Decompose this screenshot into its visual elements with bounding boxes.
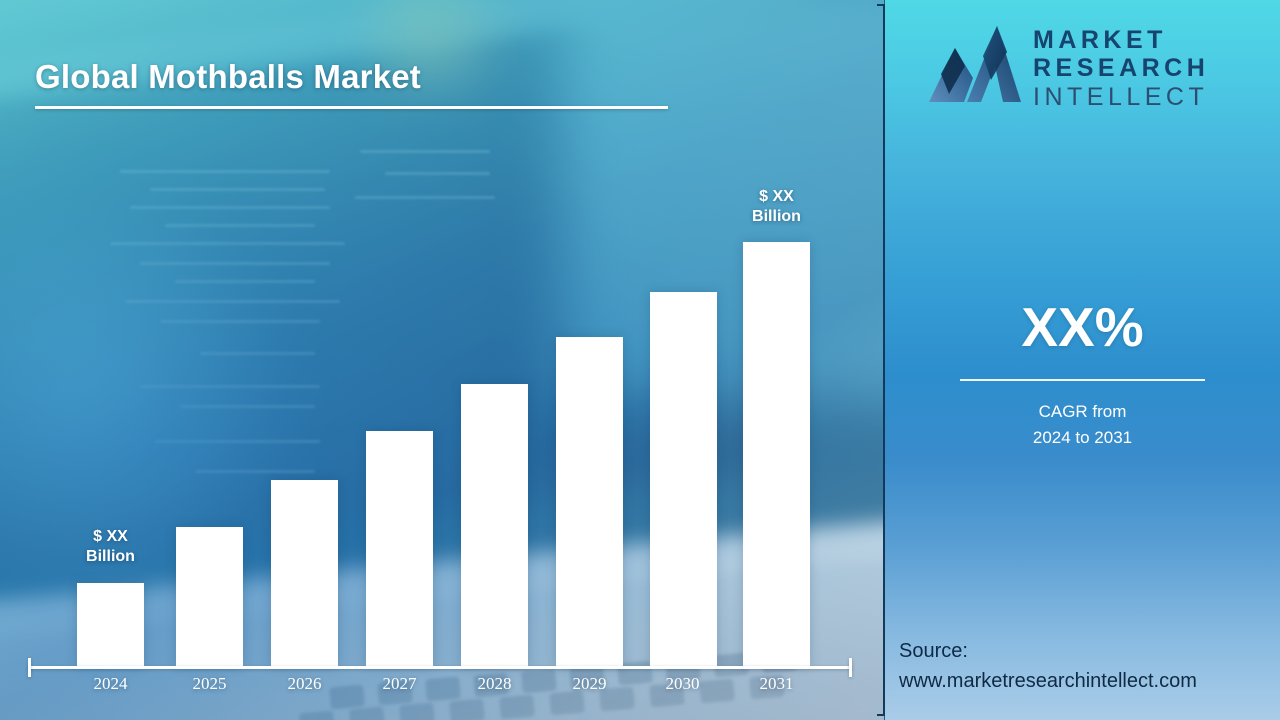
x-axis-cap-left [28,658,31,677]
bar-label-2024-line2: Billion [86,548,135,565]
source-block: Source: www.marketresearchintellect.com [899,636,1279,696]
bar-2028 [461,384,528,667]
source-url[interactable]: www.marketresearchintellect.com [899,666,1279,696]
x-axis-cap-right [849,658,852,677]
bar-label-2031-line2: Billion [752,208,801,225]
bar-2026 [271,480,338,667]
x-tick-2027: 2027 [351,674,448,694]
bar-2031 [743,242,810,667]
cagr-block: XX% CAGR from 2024 to 2031 [885,300,1280,452]
bar-2024 [77,583,144,667]
x-axis-line [28,666,852,669]
x-tick-2024: 2024 [62,674,159,694]
x-tick-2025: 2025 [161,674,258,694]
brand-logo-text: MARKET RESEARCH INTELLECT [1033,26,1263,111]
mountain-m-mark-icon [921,22,1029,106]
bar-2027 [366,431,433,667]
brand-logo: MARKET RESEARCH INTELLECT [905,14,1265,114]
cagr-value: XX% [885,300,1280,355]
cagr-description: CAGR from 2024 to 2031 [885,399,1280,452]
source-label: Source: [899,636,1279,666]
logo-line-research: RESEARCH [1033,54,1263,82]
x-tick-2029: 2029 [541,674,638,694]
cagr-divider-rule [960,379,1205,381]
bar-label-2031-line1: $ XX [759,188,794,205]
bar-chart: $ XX Billion $ XX Billion 2024 2025 2026… [0,0,884,720]
bar-label-2024-line1: $ XX [93,528,128,545]
bar-2025 [176,527,243,667]
x-tick-2030: 2030 [634,674,731,694]
bar-2029 [556,337,623,667]
bar-label-2024: $ XX Billion [62,527,159,568]
x-tick-2031: 2031 [728,674,825,694]
right-panel: MARKET RESEARCH INTELLECT XX% CAGR from … [885,0,1280,720]
x-tick-2028: 2028 [446,674,543,694]
logo-line-market: MARKET [1033,26,1263,54]
cagr-desc-line1: CAGR from [1039,402,1127,421]
bar-2030 [650,292,717,667]
logo-line-intellect: INTELLECT [1033,83,1263,111]
cagr-desc-line2: 2024 to 2031 [1033,428,1132,447]
x-tick-2026: 2026 [256,674,353,694]
left-panel: Global Mothballs Market $ XX Billion $ X… [0,0,884,720]
bar-label-2031: $ XX Billion [728,187,825,228]
